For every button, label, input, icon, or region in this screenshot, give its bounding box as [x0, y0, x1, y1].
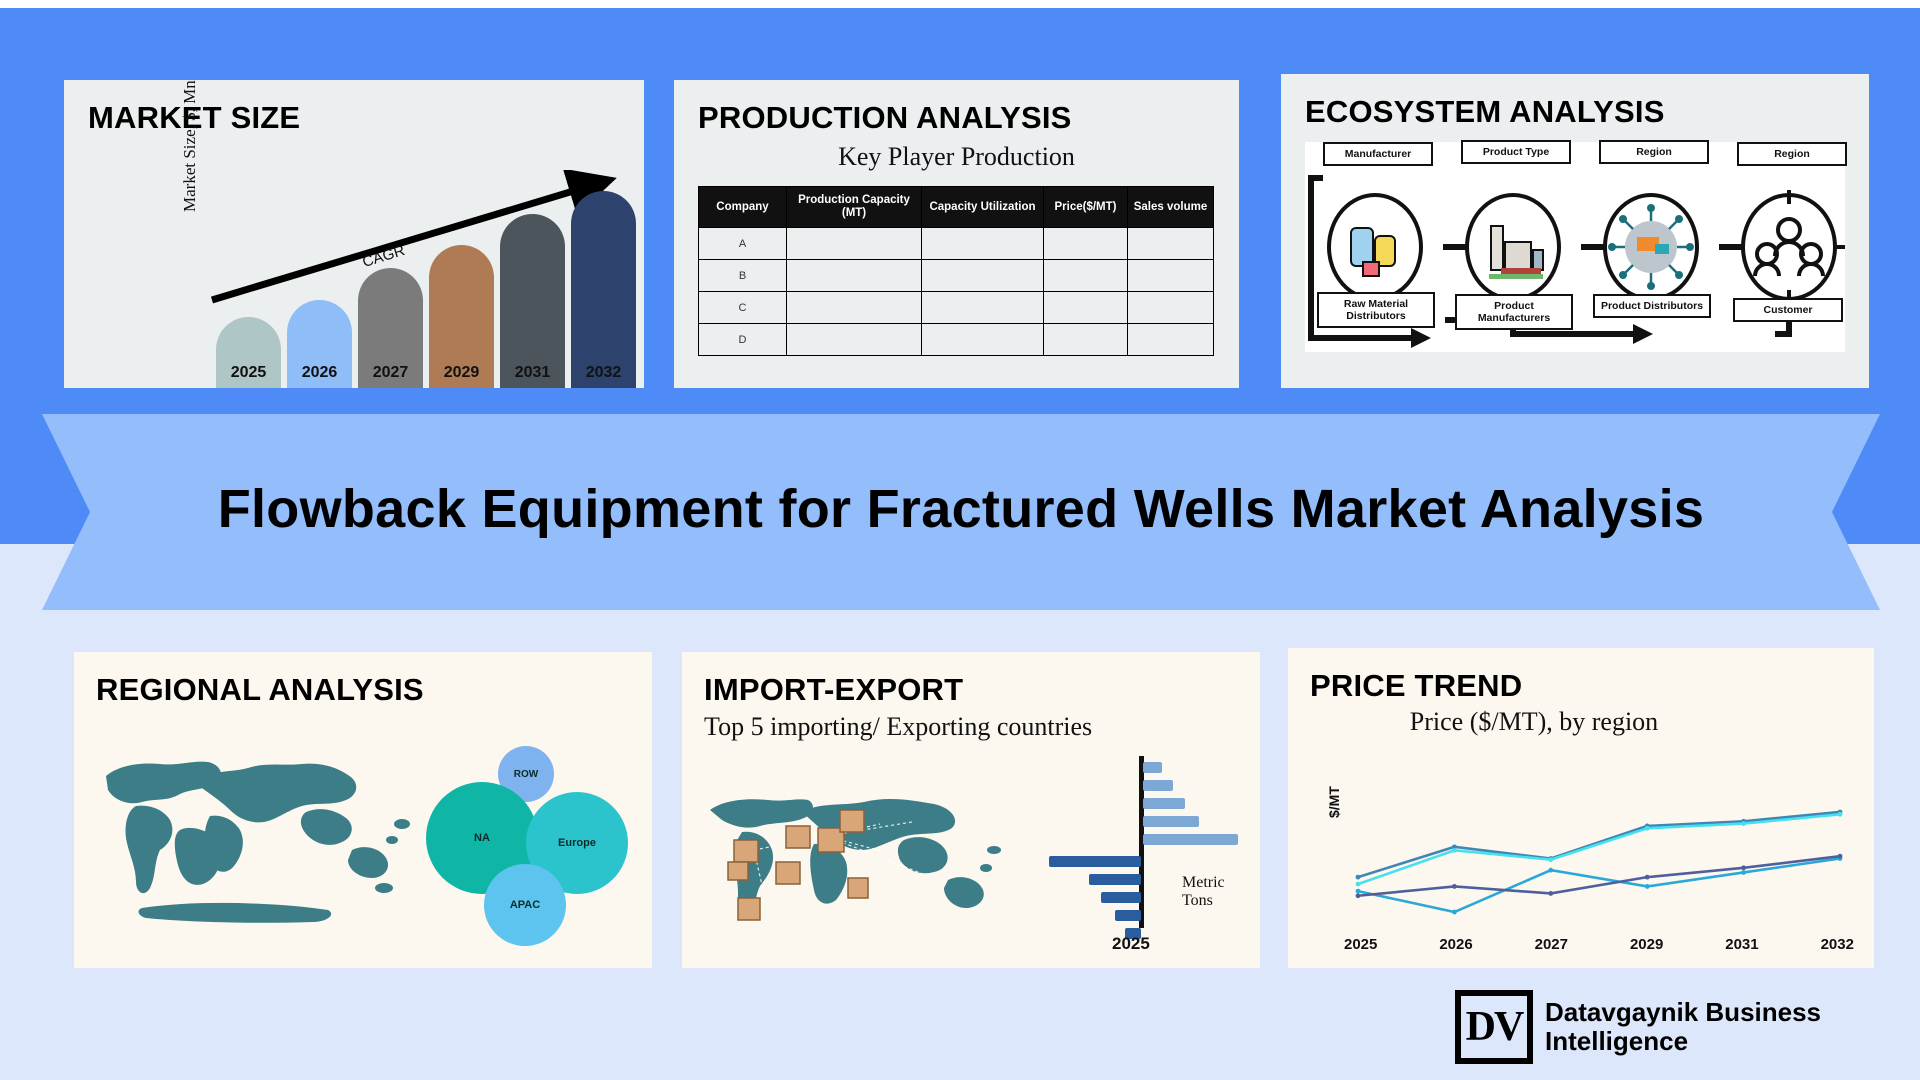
price-point-3-2027: [1548, 868, 1553, 873]
price-point-1-2025: [1356, 875, 1361, 880]
market-size-bar-2026: 2026: [287, 300, 352, 388]
table-cell-price: [1044, 292, 1128, 324]
import-bar-1: [1143, 762, 1162, 773]
import-export-card: IMPORT-EXPORT Top 5 importing/ Exporting…: [682, 652, 1260, 968]
export-bar-1: [1049, 856, 1141, 867]
main-title-banner: Flowback Equipment for Fractured Wells M…: [42, 414, 1880, 610]
price-point-2-2032: [1838, 812, 1843, 817]
bubble-apac: APAC: [484, 864, 566, 946]
table-cell-sales: [1128, 324, 1214, 356]
table-cell-sales: [1128, 292, 1214, 324]
ecosystem-analysis-card: ECOSYSTEM ANALYSIS: [1281, 74, 1869, 388]
eco-top-label-0: Manufacturer: [1323, 142, 1433, 166]
price-x-tick-2027: 2027: [1535, 936, 1568, 953]
world-map-icon: [84, 732, 424, 942]
table-cell-sales: [1128, 260, 1214, 292]
import-export-title: IMPORT-EXPORT: [704, 672, 963, 708]
eco-top-label-2: Region: [1599, 140, 1709, 164]
price-point-2-2029: [1645, 826, 1650, 831]
table-cell-utilization: [922, 292, 1044, 324]
import-bar-3: [1143, 798, 1185, 809]
price-point-4-2029: [1645, 875, 1650, 880]
trade-year-label: 2025: [1112, 934, 1150, 954]
table-body: ABCD: [699, 228, 1214, 356]
logo-mark: DV: [1455, 990, 1533, 1064]
price-trend-card: PRICE TREND Price ($/MT), by region $/MT…: [1288, 648, 1874, 968]
regional-analysis-card: REGIONAL ANALYSIS ROW NA Europe APAC: [74, 652, 652, 968]
market-size-bar-label: 2031: [515, 364, 551, 388]
market-size-bar-2029: 2029: [429, 245, 494, 388]
price-x-tick-2026: 2026: [1439, 936, 1472, 953]
import-bar-2: [1143, 780, 1173, 791]
table-cell-company: A: [699, 228, 787, 260]
price-point-2-2026: [1452, 848, 1457, 853]
table-cell-capacity: [787, 292, 922, 324]
table-cell-price: [1044, 228, 1128, 260]
ecosystem-analysis-title: ECOSYSTEM ANALYSIS: [1305, 94, 1665, 130]
table-header-capacity-utilization: Capacity Utilization: [922, 187, 1044, 228]
export-bar-3: [1101, 892, 1141, 903]
key-player-production-table: CompanyProduction Capacity (MT)Capacity …: [698, 186, 1214, 356]
market-size-bar-2031: 2031: [500, 214, 565, 388]
company-logo: DV Datavgaynik Business Intelligence: [1455, 990, 1821, 1064]
market-size-bar-label: 2026: [302, 364, 338, 388]
bubble-label-row: ROW: [514, 769, 538, 780]
price-point-4-2026: [1452, 884, 1457, 889]
export-bar-2: [1089, 874, 1141, 885]
infographic-canvas: MARKET SIZE Market Size, $, Mn CAGR 2025…: [0, 0, 1920, 1080]
table-row: C: [699, 292, 1214, 324]
price-point-4-2025: [1356, 893, 1361, 898]
market-size-card: MARKET SIZE Market Size, $, Mn CAGR 2025…: [64, 80, 644, 388]
eco-bottom-label-0: Raw Material Distributors: [1317, 292, 1435, 328]
logo-line-1: Datavgaynik Business: [1545, 998, 1821, 1027]
price-trend-subtitle: Price ($/MT), by region: [1384, 706, 1684, 738]
export-bar-4: [1115, 910, 1141, 921]
price-point-2-2025: [1356, 882, 1361, 887]
market-size-bar-2027: 2027: [358, 268, 423, 388]
price-x-tick-2029: 2029: [1630, 936, 1663, 953]
price-point-3-2029: [1645, 884, 1650, 889]
price-point-2-2031: [1741, 821, 1746, 826]
price-trend-x-axis: 202520262027202920312032: [1344, 936, 1854, 953]
import-export-tornado-chart: Metric Tons 2025: [1034, 756, 1244, 946]
eco-bottom-label-2: Product Distributors: [1593, 294, 1711, 318]
price-point-3-2031: [1741, 870, 1746, 875]
table-row: B: [699, 260, 1214, 292]
price-x-tick-2025: 2025: [1344, 936, 1377, 953]
table-header-sales-volume: Sales volume: [1128, 187, 1214, 228]
import-export-subtitle: Top 5 importing/ Exporting countries: [704, 712, 1092, 742]
market-size-bar-label: 2027: [373, 364, 409, 388]
table-cell-capacity: [787, 260, 922, 292]
production-subtitle: Key Player Production: [674, 142, 1239, 172]
metric-tons-label: Metric Tons: [1182, 874, 1244, 910]
table-cell-utilization: [922, 324, 1044, 356]
page-title: Flowback Equipment for Fractured Wells M…: [218, 478, 1705, 540]
eco-bottom-label-3: Customer: [1733, 298, 1843, 322]
table-cell-capacity: [787, 228, 922, 260]
eco-top-label-3: Region: [1737, 142, 1847, 166]
market-size-chart: Market Size, $, Mn CAGR 2025202620272029…: [64, 152, 644, 388]
production-analysis-title: PRODUCTION ANALYSIS: [698, 100, 1072, 136]
bubble-label-apac: APAC: [510, 899, 540, 911]
eco-bottom-label-1: Product Manufacturers: [1455, 294, 1573, 330]
import-bar-5: [1143, 834, 1238, 845]
import-bar-4: [1143, 816, 1199, 827]
logo-line-2: Intelligence: [1545, 1027, 1821, 1056]
table-cell-company: D: [699, 324, 787, 356]
eco-top-label-1: Product Type: [1461, 140, 1571, 164]
price-point-4-2027: [1548, 891, 1553, 896]
production-analysis-card: PRODUCTION ANALYSIS Key Player Productio…: [674, 80, 1239, 388]
price-point-4-2031: [1741, 865, 1746, 870]
price-point-2-2027: [1548, 857, 1553, 862]
market-size-bar-2025: 2025: [216, 317, 281, 388]
market-size-bar-label: 2032: [586, 364, 622, 388]
price-line-2: [1358, 814, 1840, 884]
distribution-network-icon: [1608, 204, 1694, 290]
logo-text: Datavgaynik Business Intelligence: [1545, 998, 1821, 1056]
price-trend-line-chart: [1344, 798, 1854, 926]
table-cell-utilization: [922, 260, 1044, 292]
table-header-company: Company: [699, 187, 787, 228]
price-x-tick-2032: 2032: [1821, 936, 1854, 953]
bubble-label-na: NA: [474, 832, 490, 844]
table-cell-capacity: [787, 324, 922, 356]
table-cell-company: B: [699, 260, 787, 292]
bubble-label-europe: Europe: [558, 837, 596, 849]
price-point-4-2032: [1838, 854, 1843, 859]
regional-analysis-title: REGIONAL ANALYSIS: [96, 672, 424, 708]
table-header-row: CompanyProduction Capacity (MT)Capacity …: [699, 187, 1214, 228]
market-size-bars: 202520262027202920312032: [216, 178, 636, 388]
ecosystem-flow-diagram: Manufacturer Product Type Region Region …: [1305, 142, 1845, 352]
table-cell-price: [1044, 324, 1128, 356]
market-size-bar-2032: 2032: [571, 191, 636, 388]
price-trend-title: PRICE TREND: [1310, 668, 1522, 704]
table-row: A: [699, 228, 1214, 260]
table-row: D: [699, 324, 1214, 356]
market-size-bar-label: 2029: [444, 364, 480, 388]
price-point-3-2025: [1356, 889, 1361, 894]
price-x-tick-2031: 2031: [1725, 936, 1758, 953]
table-cell-company: C: [699, 292, 787, 324]
table-cell-price: [1044, 260, 1128, 292]
table-cell-sales: [1128, 228, 1214, 260]
price-trend-y-axis-label: $/MT: [1326, 786, 1342, 818]
trade-flow-map-icon: [698, 766, 1028, 946]
table-header-price-mt: Price($/MT): [1044, 187, 1128, 228]
market-size-bar-label: 2025: [231, 364, 267, 388]
table-cell-utilization: [922, 228, 1044, 260]
market-size-y-axis-label: Market Size, $, Mn: [180, 80, 200, 212]
table-header-production-capacity-mt: Production Capacity (MT): [787, 187, 922, 228]
price-point-3-2026: [1452, 910, 1457, 915]
price-line-4: [1358, 856, 1840, 896]
